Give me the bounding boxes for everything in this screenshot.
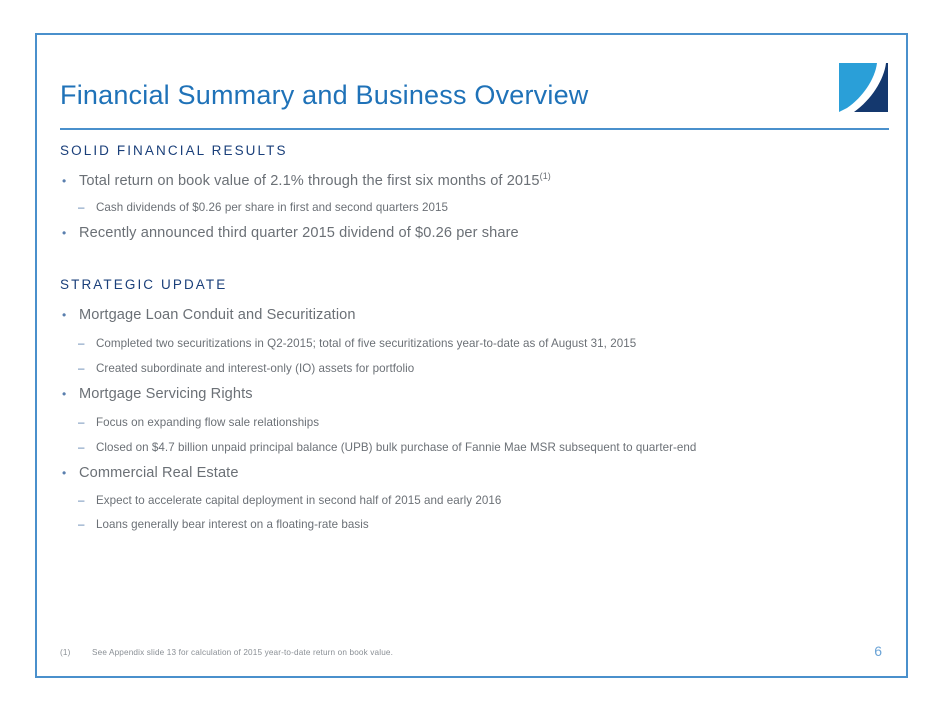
dash-marker-icon: – bbox=[78, 337, 96, 350]
subbullet-flow-sale-relationships: –Focus on expanding flow sale relationsh… bbox=[78, 416, 319, 429]
bullet-marker-icon: • bbox=[62, 466, 79, 480]
section-heading-solid-financial-results: SOLID FINANCIAL RESULTS bbox=[60, 143, 288, 158]
bullet-marker-icon: • bbox=[62, 174, 79, 188]
section-heading-strategic-update: STRATEGIC UPDATE bbox=[60, 277, 227, 292]
bullet-text: Commercial Real Estate bbox=[79, 465, 239, 481]
bullet-mortgage-servicing-rights: •Mortgage Servicing Rights bbox=[62, 386, 253, 402]
subbullet-floating-rate-basis: –Loans generally bear interest on a floa… bbox=[78, 518, 369, 531]
bullet-marker-icon: • bbox=[62, 226, 79, 240]
subbullet-fannie-mae-msr: –Closed on $4.7 billion unpaid principal… bbox=[78, 441, 696, 454]
dash-marker-icon: – bbox=[78, 201, 96, 214]
bullet-marker-icon: • bbox=[62, 308, 79, 322]
bullet-mortgage-loan-conduit: •Mortgage Loan Conduit and Securitizatio… bbox=[62, 307, 356, 323]
subbullet-completed-securitizations: –Completed two securitizations in Q2-201… bbox=[78, 337, 636, 350]
subbullet-capital-deployment: –Expect to accelerate capital deployment… bbox=[78, 494, 501, 507]
dash-marker-icon: – bbox=[78, 518, 96, 531]
subbullet-text: Expect to accelerate capital deployment … bbox=[96, 494, 501, 507]
subbullet-cash-dividends: –Cash dividends of $0.26 per share in fi… bbox=[78, 201, 448, 214]
footnote: (1)See Appendix slide 13 for calculation… bbox=[60, 648, 393, 657]
dash-marker-icon: – bbox=[78, 494, 96, 507]
subbullet-text: Cash dividends of $0.26 per share in fir… bbox=[96, 201, 448, 214]
subbullet-text: Created subordinate and interest-only (I… bbox=[96, 362, 414, 375]
page-title: Financial Summary and Business Overview bbox=[60, 80, 589, 111]
page-number: 6 bbox=[874, 643, 882, 659]
subbullet-text: Loans generally bear interest on a float… bbox=[96, 518, 369, 531]
footnote-marker: (1) bbox=[60, 648, 92, 657]
footnote-text: See Appendix slide 13 for calculation of… bbox=[92, 648, 393, 657]
dash-marker-icon: – bbox=[78, 441, 96, 454]
title-divider bbox=[60, 128, 889, 130]
bullet-text: Mortgage Servicing Rights bbox=[79, 386, 253, 402]
dash-marker-icon: – bbox=[78, 416, 96, 429]
bullet-marker-icon: • bbox=[62, 387, 79, 401]
subbullet-text: Closed on $4.7 billion unpaid principal … bbox=[96, 441, 696, 454]
company-logo-icon bbox=[837, 61, 890, 114]
bullet-text: Recently announced third quarter 2015 di… bbox=[79, 225, 519, 241]
bullet-third-quarter-dividend: •Recently announced third quarter 2015 d… bbox=[62, 225, 519, 241]
bullet-commercial-real-estate: •Commercial Real Estate bbox=[62, 465, 239, 481]
slide-frame: Financial Summary and Business Overview … bbox=[35, 33, 908, 678]
subbullet-text: Focus on expanding flow sale relationshi… bbox=[96, 416, 319, 429]
dash-marker-icon: – bbox=[78, 362, 96, 375]
bullet-text: Total return on book value of 2.1% throu… bbox=[79, 173, 540, 189]
bullet-total-return: •Total return on book value of 2.1% thro… bbox=[62, 171, 551, 189]
bullet-text: Mortgage Loan Conduit and Securitization bbox=[79, 307, 356, 323]
subbullet-text: Completed two securitizations in Q2-2015… bbox=[96, 337, 636, 350]
subbullet-created-subordinate: –Created subordinate and interest-only (… bbox=[78, 362, 414, 375]
footnote-ref: (1) bbox=[540, 171, 551, 181]
